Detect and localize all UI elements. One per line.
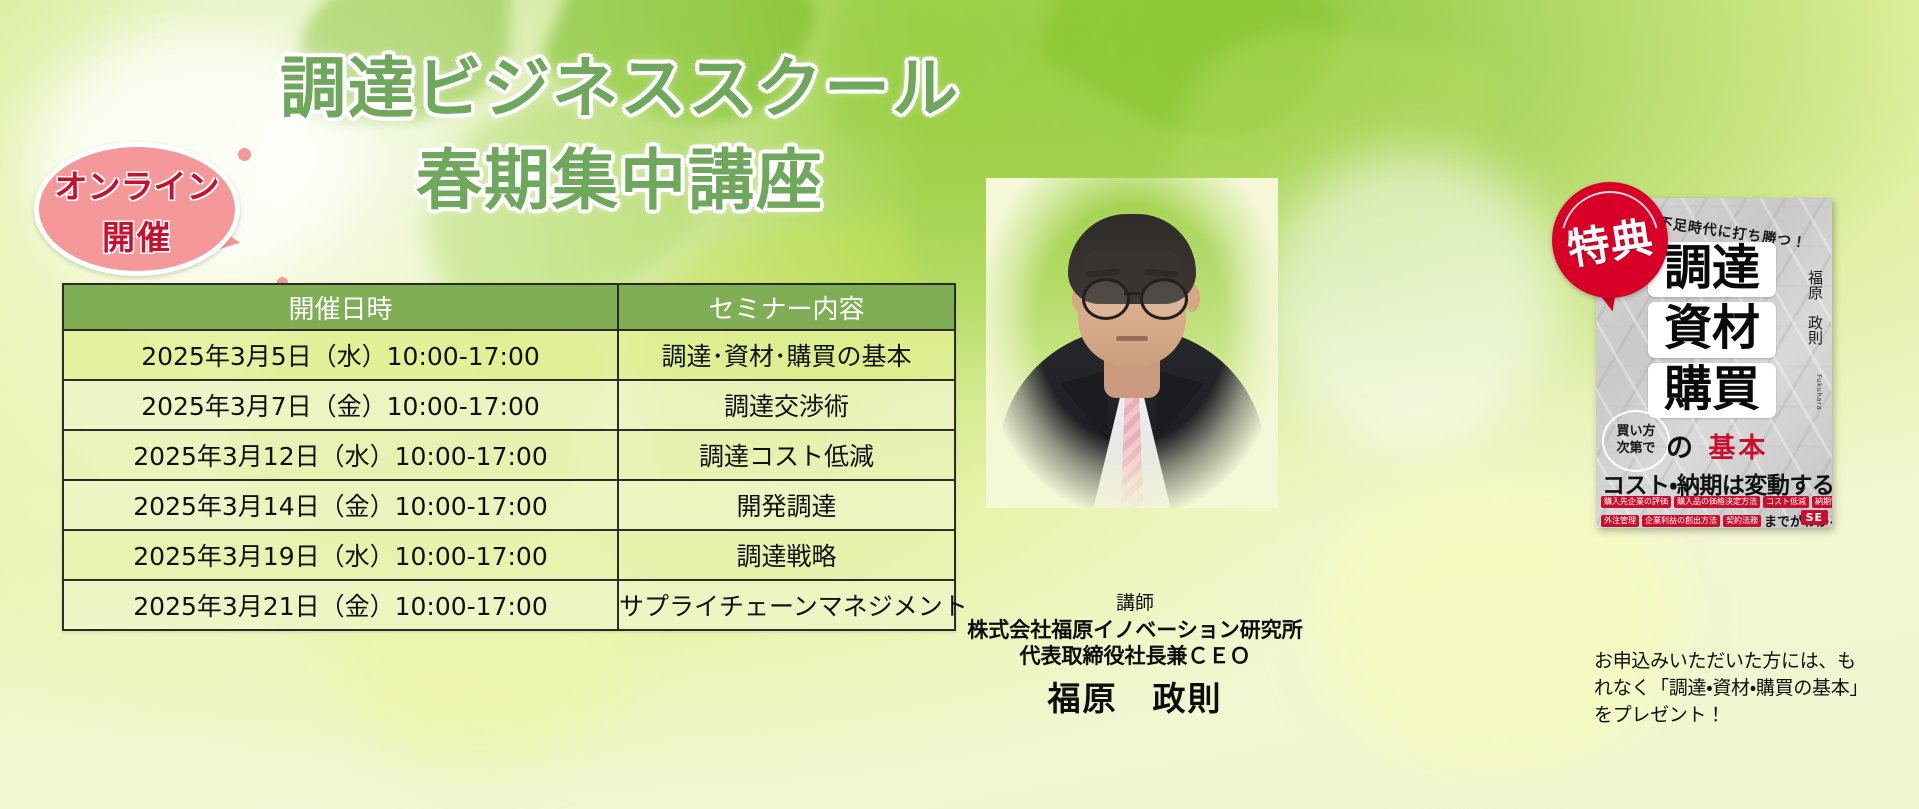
book-chip: 購入品の価格決定方法 (1674, 496, 1760, 508)
cell-date: 2025年3月5日（水）10:00-17:00 (63, 330, 618, 380)
book-chip: 企業利益の創出方法 (1642, 515, 1720, 527)
book-chip: 購入先企業の評価 (1601, 496, 1671, 508)
table-row: 2025年3月12日（水）10:00-17:00 調達コスト低減 (63, 430, 955, 480)
book-chip: 契約法務 (1723, 515, 1761, 527)
title-line-1: 調達ビジネススクール (200, 52, 1040, 126)
cell-topic: 調達戦略 (618, 530, 955, 580)
seminar-banner: 調達ビジネススクール 春期集中講座 オンライン 開催 開催日時 セミナー内容 2… (0, 0, 1919, 809)
table-row: 2025年3月7日（金）10:00-17:00 調達交渉術 (63, 380, 955, 430)
book-chip: 外注管理 (1601, 515, 1639, 527)
speaker-position: 代表取締役社長兼ＣＥＯ (960, 643, 1310, 669)
speaker-caption: 講師 株式会社福原イノベーション研究所 代表取締役社長兼ＣＥＯ 福原 政則 (960, 588, 1310, 720)
chip-row-2: 外注管理 企業利益の創出方法 契約法務 までがわかる！ (1601, 511, 1827, 528)
book-chip: コスト低減 (1763, 496, 1809, 508)
title-line-2: 春期集中講座 (200, 144, 1040, 218)
book-bubble-line-1: 買い方 (1616, 424, 1655, 441)
speaker-role-label: 講師 (960, 588, 1310, 615)
table-row: 2025年3月21日（金）10:00-17:00 サプライチェーンマネジメント (63, 580, 955, 630)
banner-title: 調達ビジネススクール 春期集中講座 (200, 52, 1040, 218)
gift-note: お申込みいただいた方には、もれなく「調達・資材・購買の基本」をプレゼント！ (1594, 648, 1862, 729)
cell-date: 2025年3月19日（水）10:00-17:00 (63, 530, 618, 580)
table-header-row: 開催日時 セミナー内容 (63, 284, 955, 330)
speaker-organization: 株式会社福原イノベーション研究所 (960, 617, 1310, 643)
book-author-romaji-line-1: Fukuhara (1815, 374, 1823, 410)
cell-topic: 調達交渉術 (618, 380, 955, 430)
speaker-photo (986, 178, 1278, 508)
light-glow (1260, 150, 1560, 450)
bonus-stamp-label: 特典 (1563, 203, 1657, 277)
book-author-romaji: Fukuhara (1797, 374, 1823, 410)
chip-row-1: 購入先企業の評価 購入品の価格決定方法 コスト低減 納期管理 品質管理 (1601, 496, 1827, 508)
speaker-name: 福原 政則 (960, 672, 1310, 720)
book-author-name: 福原 政則 (1795, 270, 1825, 345)
column-header-date: 開催日時 (63, 284, 618, 330)
cell-date: 2025年3月12日（水）10:00-17:00 (63, 430, 618, 480)
book-bubble-line-2: 次第で (1616, 441, 1655, 458)
book-speech-bubble: 買い方 次第で (1602, 410, 1670, 472)
cell-date: 2025年3月21日（金）10:00-17:00 (63, 580, 618, 630)
bonus-stamp: 特典 (1552, 182, 1668, 298)
table-row: 2025年3月5日（水）10:00-17:00 調達･資材･購買の基本 (63, 330, 955, 380)
book-title-block: 調達 資材 購買 (1648, 242, 1776, 423)
online-badge: オンライン 開催 (34, 142, 240, 276)
online-badge-line-2: 開催 (102, 211, 172, 259)
book-title-char-2: 資材 (1648, 302, 1776, 357)
cell-topic: 調達コスト低減 (618, 430, 955, 480)
schedule-table: 開催日時 セミナー内容 2025年3月5日（水）10:00-17:00 調達･資… (62, 283, 956, 631)
book-subtitle: の 基本 (1666, 426, 1768, 465)
book-subtitle-no: の (1666, 433, 1696, 464)
cell-date: 2025年3月7日（金）10:00-17:00 (63, 380, 618, 430)
photo-vignette (986, 178, 1278, 508)
online-badge-line-1: オンライン (55, 160, 220, 208)
cell-topic: 開発調達 (618, 480, 955, 530)
table-row: 2025年3月14日（金）10:00-17:00 開発調達 (63, 480, 955, 530)
cell-topic: サプライチェーンマネジメント (618, 580, 955, 630)
cell-topic: 調達･資材･購買の基本 (618, 330, 955, 380)
table-row: 2025年3月19日（水）10:00-17:00 調達戦略 (63, 530, 955, 580)
book-publisher-logo: SE (1801, 510, 1828, 525)
cell-date: 2025年3月14日（金）10:00-17:00 (63, 480, 618, 530)
column-header-topic: セミナー内容 (618, 284, 955, 330)
book-catchphrase: コスト・納期は変動する！ (1602, 466, 1826, 500)
book-subtitle-kihon: 基本 (1708, 433, 1768, 464)
book-chip: 納期管理 (1812, 496, 1832, 508)
book-title-char-1: 調達 (1648, 242, 1776, 297)
book-title-char-3: 購買 (1648, 363, 1776, 418)
book-topic-chips: 購入先企業の評価 購入品の価格決定方法 コスト低減 納期管理 品質管理 外注管理… (1601, 496, 1827, 528)
